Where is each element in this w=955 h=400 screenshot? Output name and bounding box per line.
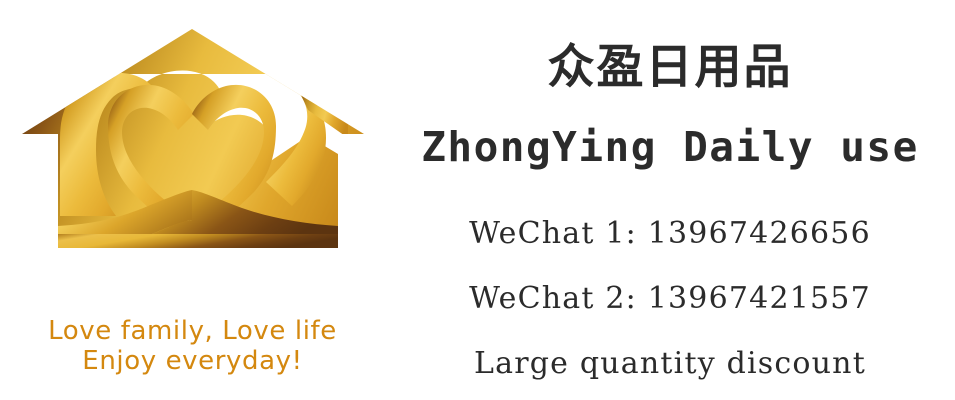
tagline-line-1: Love family, Love life: [0, 316, 385, 346]
house-heart-hands-book-logo: [8, 10, 378, 250]
bulk-discount-note: Large quantity discount: [385, 346, 955, 381]
company-name-chinese: 众盈日用品: [385, 28, 955, 97]
wechat-contact-2: WeChat 2: 13967421557: [385, 281, 955, 316]
brand-block: Love family, Love life Enjoy everyday!: [0, 0, 390, 400]
wechat-contact-1: WeChat 1: 13967426656: [385, 216, 955, 251]
tagline: Love family, Love life Enjoy everyday!: [0, 316, 385, 376]
store-banner: Love family, Love life Enjoy everyday! 众…: [0, 0, 955, 400]
info-block: 众盈日用品 ZhongYing Daily use WeChat 1: 1396…: [385, 0, 955, 400]
company-name-english: ZhongYing Daily use: [385, 123, 955, 171]
tagline-line-2: Enjoy everyday!: [0, 346, 385, 376]
